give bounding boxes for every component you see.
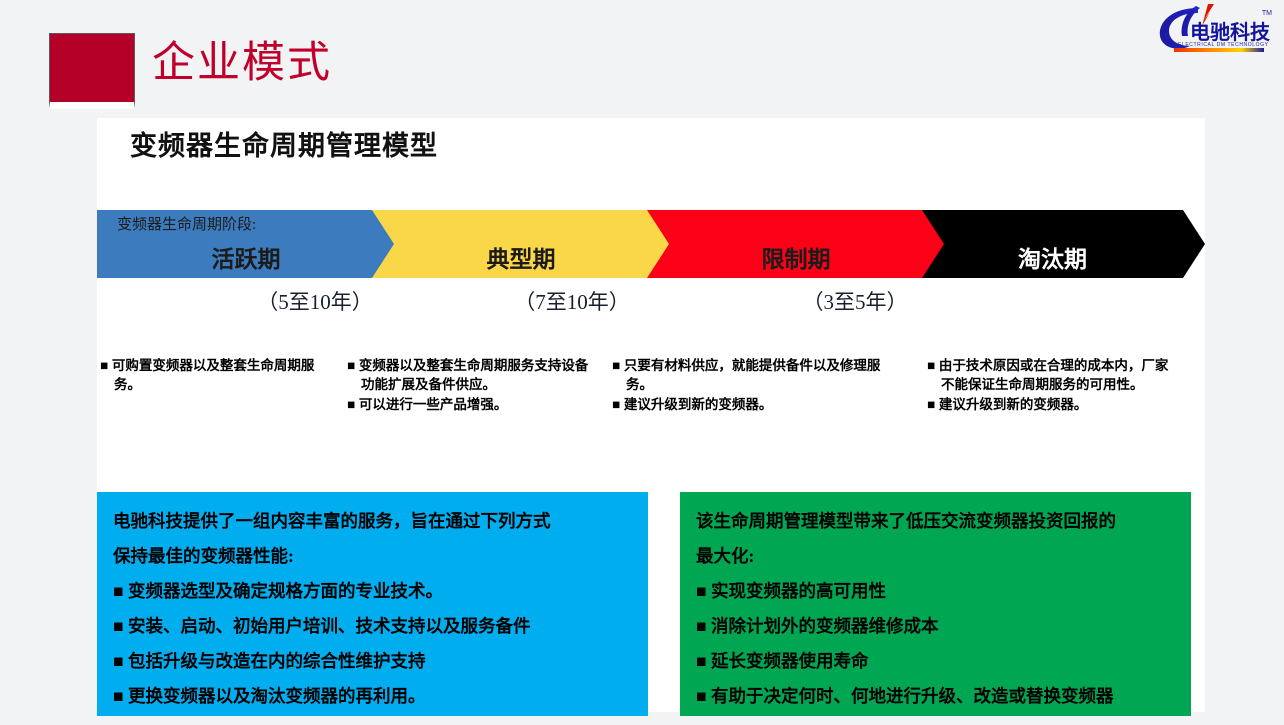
lifecycle-stage-active[interactable]: 变频器生命周期阶段: 活跃期 (97, 210, 417, 278)
callout-line: 最大化: (696, 539, 1175, 574)
lifecycle-notes-column-2: ■ 变频器以及整套生命周期服务支持设备功能扩展及备件供应。 ■ 可以进行一些产品… (347, 356, 597, 415)
logo-name-cn: 电驰科技 (1190, 16, 1270, 45)
lifecycle-stage-label: 典型期 (372, 240, 670, 274)
callout-list-item: ■ 延长变频器使用寿命 (696, 644, 1175, 679)
lifecycle-notes-column-3: ■ 只要有材料供应，就能提供备件以及修理服务。 ■ 建议升级到新的变频器。 (612, 356, 902, 415)
benefits-callout-box: 该生命周期管理模型带来了低压交流变频器投资回报的 最大化: ■ 实现变频器的高可… (680, 492, 1191, 716)
slide-header: 企业模式 (0, 0, 1284, 118)
lifecycle-notes-column-1: ■ 可购置变频器以及整套生命周期服务。 (100, 356, 330, 395)
callout-list-item: ■ 实现变频器的高可用性 (696, 574, 1175, 609)
title-decor-swatch-fill (50, 34, 134, 102)
company-logo: 电驰科技 TM ELECTRICAL DM TECHNOLOGY (1152, 2, 1278, 54)
list-item: ■ 由于技术原因或在合理的成本内，厂家不能保证生命周期服务的可用性。 (927, 356, 1172, 394)
callout-line: 该生命周期管理模型带来了低压交流变频器投资回报的 (696, 504, 1175, 539)
callout-list-item: ■ 安装、启动、初始用户培训、技术支持以及服务备件 (113, 609, 632, 644)
services-callout-box: 电驰科技提供了一组内容丰富的服务，旨在通过下列方式 保持最佳的变频器性能: ■ … (97, 492, 648, 716)
page-title: 企业模式 (152, 40, 332, 87)
lifecycle-chevron-band: 变频器生命周期阶段: 活跃期 典型期 限制期 淘汰期 (97, 210, 1205, 278)
list-item: ■ 建议升级到新的变频器。 (927, 395, 1172, 414)
list-item: ■ 变频器以及整套生命周期服务支持设备功能扩展及备件供应。 (347, 356, 597, 394)
lifecycle-notes-column-4: ■ 由于技术原因或在合理的成本内，厂家不能保证生命周期服务的可用性。 ■ 建议升… (927, 356, 1172, 415)
list-item: ■ 可购置变频器以及整套生命周期服务。 (100, 356, 330, 394)
lifecycle-stage-limited[interactable]: 限制期 (647, 210, 967, 278)
list-item: ■ 建议升级到新的变频器。 (612, 395, 902, 414)
lifecycle-stage-label: 活跃期 (97, 240, 395, 274)
callout-list-item: ■ 消除计划外的变频器维修成本 (696, 609, 1175, 644)
callout-list-item: ■ 变频器选型及确定规格方面的专业技术。 (113, 574, 632, 609)
callout-list-item: ■ 包括升级与改造在内的综合性维护支持 (113, 644, 632, 679)
lifecycle-notes-columns: ■ 可购置变频器以及整套生命周期服务。 ■ 变频器以及整套生命周期服务支持设备功… (97, 356, 1205, 476)
slide-canvas: 企业模式 (0, 0, 1284, 725)
panel-title: 变频器生命周期管理模型 (130, 124, 438, 163)
lifecycle-stage-years: （7至10年） (442, 286, 702, 316)
lifecycle-stage-years: （3至5年） (725, 286, 985, 316)
lifecycle-band-caption: 变频器生命周期阶段: (97, 213, 417, 234)
lifecycle-stage-label: 淘汰期 (922, 240, 1183, 274)
lifecycle-stage-label: 限制期 (647, 240, 945, 274)
logo-trademark: TM (1262, 10, 1272, 17)
lifecycle-stage-typical[interactable]: 典型期 (372, 210, 692, 278)
list-item: ■ 只要有材料供应，就能提供备件以及修理服务。 (612, 356, 902, 394)
lifecycle-stage-years: （5至10年） (185, 286, 445, 316)
lifecycle-stage-obsolete[interactable]: 淘汰期 (922, 210, 1205, 278)
callout-list-item: ■ 更换变频器以及淘汰变频器的再利用。 (113, 679, 632, 714)
callout-list-item: ■ 有助于决定何时、何地进行升级、改造或替换变频器 (696, 679, 1175, 714)
title-decor-swatch (49, 33, 135, 109)
callout-line: 电驰科技提供了一组内容丰富的服务，旨在通过下列方式 (113, 504, 632, 539)
logo-name-en: ELECTRICAL DM TECHNOLOGY (1178, 42, 1269, 48)
list-item: ■ 可以进行一些产品增强。 (347, 395, 597, 414)
callout-line: 保持最佳的变频器性能: (113, 539, 632, 574)
